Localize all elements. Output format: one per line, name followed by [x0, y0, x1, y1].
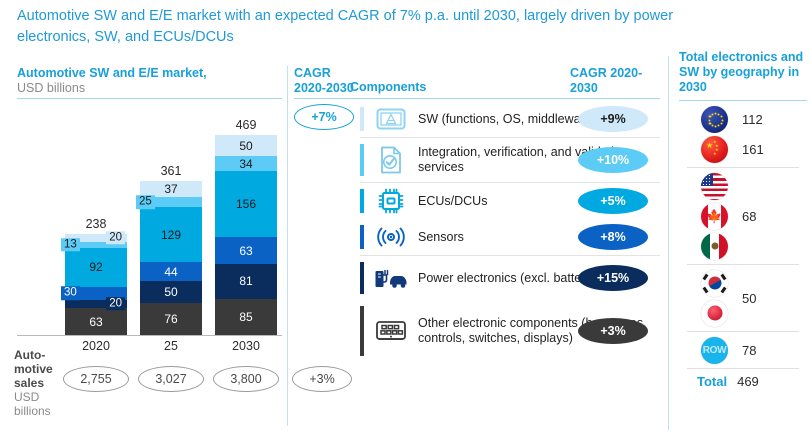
bar-group-25: 3613725129445076 — [140, 181, 202, 335]
geography-total-value: 469 — [737, 374, 759, 389]
geography-group: 50 — [679, 268, 807, 328]
control-panel-icon — [374, 316, 408, 346]
bar-segment: 76 — [140, 303, 202, 335]
sales-label-line2: motive — [14, 362, 69, 376]
sales-label-line3: sales — [14, 376, 69, 390]
divider-middle — [294, 98, 660, 99]
bar-segment-value: 44 — [164, 266, 177, 278]
automotive-sales-value: 3,027 — [138, 366, 204, 392]
flag-mexico — [701, 233, 728, 260]
bar-segment: 156 — [215, 171, 277, 238]
chart-column-header: Automotive SW and E/E market, USD billio… — [17, 66, 282, 96]
bar-segment: 44 — [140, 262, 202, 281]
x-axis-tick-25: 25 — [140, 339, 202, 353]
chart-title: Automotive SW and E/E market, — [17, 66, 207, 80]
bar-segment: 25 — [140, 197, 202, 208]
divider-left — [17, 98, 282, 99]
geography-row — [679, 231, 807, 261]
geography-panel: 112★★★★★161🍁6850ROW78Total 469 — [679, 104, 807, 389]
bar-total-label: 469 — [215, 118, 277, 132]
bar-segment-value-callout: 20 — [106, 231, 125, 245]
chart-baseline — [17, 335, 282, 336]
bar-total-label: 238 — [65, 217, 127, 231]
component-label: Sensors — [418, 230, 464, 245]
bar-segment-value: 63 — [89, 316, 102, 328]
bar-segment-value: 50 — [239, 140, 252, 152]
bar-group-2020: 238201392302063 — [65, 234, 127, 335]
component-cagr-badge: +9% — [578, 106, 648, 132]
bar-segment: 50 — [215, 135, 277, 156]
component-cagr-badge: +10% — [578, 147, 648, 173]
bar-segment-value-callout: 13 — [61, 238, 80, 252]
bar-segment-value: 37 — [164, 183, 177, 195]
bar-segment: 20 — [65, 300, 127, 309]
bar-segment-value: 34 — [239, 158, 252, 170]
screen-software-icon — [374, 104, 408, 134]
sensor-waves-icon — [374, 222, 408, 252]
bar-segment: 34 — [215, 156, 277, 170]
flag-eu — [701, 106, 728, 133]
bar-segment: 50 — [140, 281, 202, 302]
cagr-right-line1: CAGR 2020- — [570, 66, 642, 80]
geography-group: ROW78 — [679, 335, 807, 365]
bar-segment: 129 — [140, 207, 202, 262]
bar-segment-value: 85 — [239, 311, 252, 323]
divider-right — [679, 100, 807, 101]
flag-japan — [701, 300, 728, 327]
geography-value: 78 — [742, 343, 756, 358]
geography-total-row: Total 469 — [679, 374, 807, 389]
x-axis-tick-2020: 2020 — [65, 339, 127, 353]
automotive-sales-value: 3,800 — [213, 366, 279, 392]
bar-segment-value: 92 — [89, 261, 102, 273]
cagr-header-line2: 2020-2030 — [294, 81, 354, 95]
bar-segment-value-callout: 30 — [61, 286, 80, 300]
geography-row: 50 — [679, 268, 807, 298]
bar-segment-value: 156 — [236, 198, 256, 210]
component-color-bar — [360, 306, 364, 356]
bar-segment-value: 129 — [161, 229, 181, 241]
geography-value: 112 — [742, 112, 763, 127]
geography-row: ROW78 — [679, 335, 807, 365]
geography-column-header: Total electronics and SW by geography in… — [679, 50, 807, 95]
document-check-icon — [374, 145, 408, 175]
flag-south-korea — [701, 270, 728, 297]
sales-unit-line1: USD — [14, 390, 69, 404]
flag-rest-of-world: ROW — [701, 337, 728, 364]
vertical-divider-2 — [668, 56, 669, 430]
components-header-label: Components — [350, 80, 426, 94]
bar-segment-value: 76 — [164, 313, 177, 325]
sales-label-line1: Auto- — [14, 348, 69, 362]
bar-segment: 92 — [65, 248, 127, 287]
chart-subtitle: USD billions — [17, 81, 85, 95]
stacked-bar-chart: 2382013923020632020361372512944507625469… — [17, 105, 282, 335]
geography-total-label: Total — [697, 374, 727, 389]
component-color-bar — [360, 107, 364, 131]
geography-group: 🍁68 — [679, 171, 807, 261]
flag-china: ★★★★★ — [701, 136, 728, 163]
geography-value: 50 — [742, 291, 756, 306]
component-cagr-badge: +8% — [578, 224, 648, 250]
geography-row: 112 — [679, 104, 807, 134]
component-color-bar — [360, 262, 364, 294]
bar-group-2030: 4695034156638185 — [215, 135, 277, 335]
sales-unit-line2: billions — [14, 404, 69, 418]
component-cagr-badge: +3% — [578, 318, 648, 344]
geography-separator — [687, 331, 799, 332]
bar-total-label: 361 — [140, 164, 202, 178]
bar-segment-value-callout: 25 — [136, 195, 155, 209]
x-axis-tick-2030: 2030 — [215, 339, 277, 353]
bar-segment-value-callout: 20 — [106, 297, 125, 311]
component-cagr-badge: +15% — [578, 265, 648, 291]
geography-row: ★★★★★161 — [679, 134, 807, 164]
component-label: ECUs/DCUs — [418, 194, 487, 209]
bar-segment: 81 — [215, 264, 277, 299]
cagr-right-column-header: CAGR 2020- 2030 — [570, 66, 660, 96]
ev-charging-car-icon — [374, 263, 408, 293]
flag-canada: 🍁 — [701, 203, 728, 230]
geography-group: ★★★★★161 — [679, 134, 807, 164]
geography-separator — [687, 264, 799, 265]
cagr-header-line1: CAGR — [294, 66, 331, 80]
automotive-sales-value: 2,755 — [63, 366, 129, 392]
flag-usa — [701, 173, 728, 200]
sales-cagr-badge: +3% — [292, 366, 352, 392]
geography-value: 161 — [742, 142, 764, 157]
component-cagr-badge: +5% — [578, 188, 648, 214]
geography-value: 68 — [742, 209, 756, 224]
geography-separator — [687, 368, 799, 369]
geography-row — [679, 171, 807, 201]
geography-group: 112 — [679, 104, 807, 134]
cagr-right-line2: 2030 — [570, 81, 598, 95]
page-title: Automotive SW and E/E market with an exp… — [17, 6, 717, 48]
components-column-header: Components — [350, 80, 550, 95]
chip-icon — [374, 186, 408, 216]
component-color-bar — [360, 144, 364, 176]
geography-separator — [687, 167, 799, 168]
geography-row: 🍁68 — [679, 201, 807, 231]
bar-segment-value: 63 — [239, 245, 252, 257]
bar-segment: 85 — [215, 299, 277, 335]
component-color-bar — [360, 189, 364, 213]
vertical-divider-1 — [287, 66, 288, 426]
bar-segment: 63 — [65, 308, 127, 335]
slide-root: Automotive SW and E/E market with an exp… — [0, 0, 811, 434]
automotive-sales-label: Auto- motive sales USD billions — [14, 348, 69, 418]
component-label: SW (functions, OS, middleware) — [418, 112, 596, 127]
bar-segment-value: 50 — [164, 286, 177, 298]
component-color-bar — [360, 225, 364, 249]
bar-segment-value: 81 — [239, 275, 252, 287]
overall-cagr-badge: +7% — [294, 104, 354, 130]
bar-segment: 63 — [215, 237, 277, 264]
